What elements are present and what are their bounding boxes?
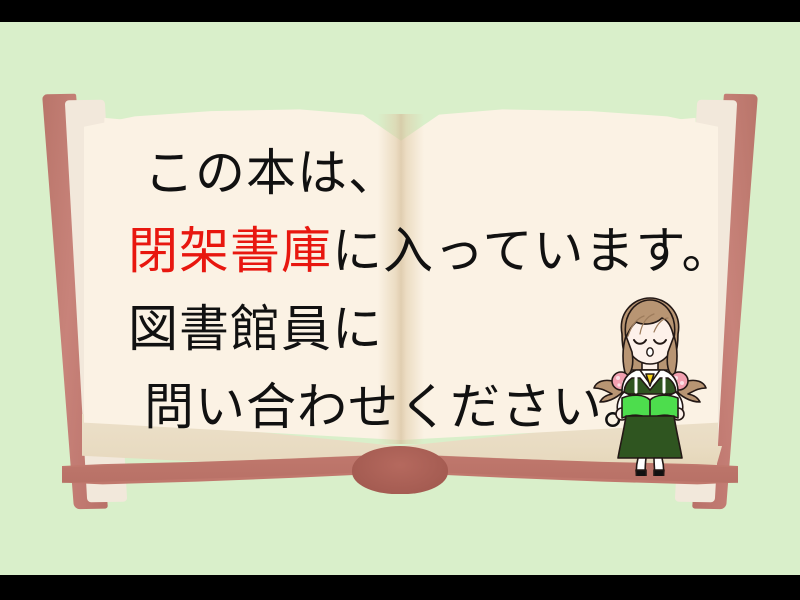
sock-right [654, 470, 664, 476]
letterbox-bar-bottom [0, 575, 800, 600]
message-line-1-text: この本は、 [144, 144, 399, 202]
message-line-2-highlight: 閉架書庫 [128, 222, 332, 280]
skirt [618, 416, 682, 458]
librarian-girl-illustration [592, 294, 708, 476]
message-line-3-text: 図書館員に [128, 300, 383, 358]
message-line-4-text: 問い合わせください。 [144, 378, 654, 436]
message-line-2: 閉架書庫に入っています。 [128, 212, 688, 290]
mouth [647, 348, 653, 356]
message-line-2-rest: に入っています。 [332, 222, 733, 280]
slide-stage: この本は、 閉架書庫に入っています。 図書館員に 問い合わせください。 [0, 0, 800, 600]
letterbox-bar-top [0, 0, 800, 22]
slide-canvas: この本は、 閉架書庫に入っています。 図書館員に 問い合わせください。 [0, 22, 800, 575]
book-spine-knot [352, 446, 448, 494]
message-line-1: この本は、 [128, 134, 688, 212]
sock-left [636, 470, 646, 476]
